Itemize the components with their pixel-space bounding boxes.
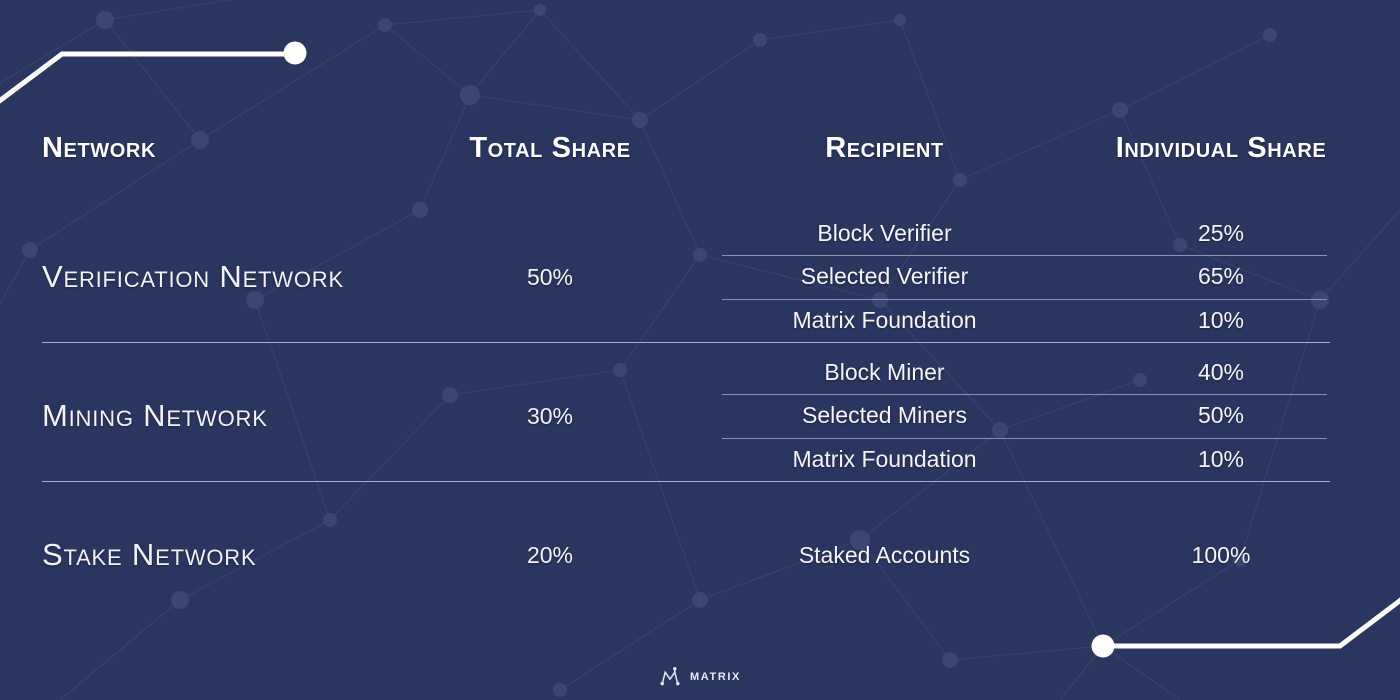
recipient-label: Block Verifier <box>722 220 1047 247</box>
footer-logo: MATRIX <box>0 662 1400 692</box>
column-header-individual-share: Individual Share <box>1086 128 1356 168</box>
table-row: Selected Verifier 65% <box>722 255 1327 298</box>
total-share-cell: 20% <box>440 520 660 590</box>
total-share-value: 50% <box>527 264 573 291</box>
share-distribution-table: Network Total Share Recipient Individual… <box>0 0 1400 700</box>
logo-wordmark: MATRIX <box>690 671 741 683</box>
slide-canvas: Network Total Share Recipient Individual… <box>0 0 1400 700</box>
total-share-value: 30% <box>527 403 573 430</box>
table-section-verification-network: Verification Network 50% Block Verifier … <box>0 212 1400 342</box>
individual-share-value: 40% <box>1086 359 1356 386</box>
network-cell: Verification Network <box>42 212 482 342</box>
recipient-label: Matrix Foundation <box>722 307 1047 334</box>
table-row: Selected Miners 50% <box>722 394 1327 437</box>
total-share-cell: 30% <box>440 351 660 481</box>
recipient-label: Block Miner <box>722 359 1047 386</box>
total-share-value: 20% <box>527 542 573 569</box>
individual-share-value: 10% <box>1086 307 1356 334</box>
recipient-subrows: Block Verifier 25% Selected Verifier 65%… <box>722 212 1327 342</box>
total-share-cell: 50% <box>440 212 660 342</box>
table-section-stake-network: Stake Network 20% Staked Accounts 100% <box>0 520 1400 590</box>
table-row: Matrix Foundation 10% <box>722 438 1327 481</box>
individual-share-value: 10% <box>1086 446 1356 473</box>
matrix-m-icon <box>659 666 681 688</box>
column-header-network: Network <box>42 128 482 168</box>
table-header-row: Network Total Share Recipient Individual… <box>0 128 1400 172</box>
recipient-label: Selected Miners <box>722 402 1047 429</box>
network-name-label: Mining Network <box>42 398 268 434</box>
network-cell: Stake Network <box>42 520 482 590</box>
recipient-label: Matrix Foundation <box>722 446 1047 473</box>
recipient-subrows: Block Miner 40% Selected Miners 50% Matr… <box>722 351 1327 481</box>
network-name-label: Verification Network <box>42 259 344 295</box>
column-header-recipient: Recipient <box>722 128 1047 168</box>
network-cell: Mining Network <box>42 351 482 481</box>
table-row: Matrix Foundation 10% <box>722 299 1327 342</box>
individual-share-value: 25% <box>1086 220 1356 247</box>
recipient-label: Selected Verifier <box>722 263 1047 290</box>
individual-share-value: 50% <box>1086 402 1356 429</box>
table-row: Block Miner 40% <box>722 351 1327 394</box>
table-section-mining-network: Mining Network 30% Block Miner 40% Selec… <box>0 351 1400 481</box>
individual-share-value: 65% <box>1086 263 1356 290</box>
individual-share-value: 100% <box>1086 520 1356 590</box>
table-row: Block Verifier 25% <box>722 212 1327 255</box>
section-divider <box>42 342 1330 343</box>
column-header-total-share: Total Share <box>440 128 660 168</box>
network-name-label: Stake Network <box>42 537 256 573</box>
section-divider <box>42 481 1330 482</box>
recipient-label: Staked Accounts <box>722 520 1047 590</box>
